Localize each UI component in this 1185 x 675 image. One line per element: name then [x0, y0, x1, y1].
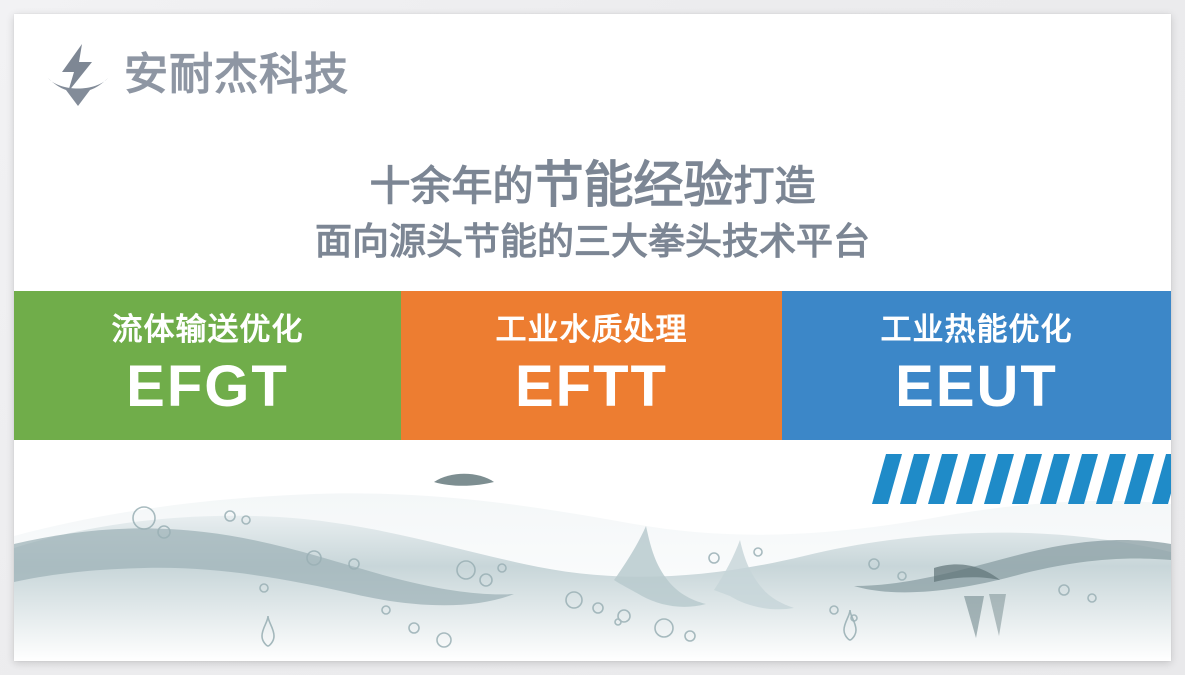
headline-emphasis: 节能经验: [534, 156, 734, 214]
panel-eeut-title: 工业热能优化: [881, 315, 1073, 346]
panel-eeut[interactable]: 工业热能优化 EEUT: [782, 291, 1171, 440]
headline-prefix: 十余年的: [370, 162, 534, 210]
panel-eftt-title: 工业水质处理: [496, 315, 688, 346]
headline-suffix: 打造: [734, 162, 816, 210]
panel-eftt[interactable]: 工业水质处理 EFTT: [401, 291, 782, 440]
panel-efgt-code: EFGT: [126, 358, 289, 416]
panel-efgt[interactable]: 流体输送优化 EFGT: [14, 291, 401, 440]
company-logo: 安耐杰科技: [46, 42, 349, 108]
slide-root: 安耐杰科技 十余年的节能经验打造 面向源头节能的三大拳头技术平台 流体输送优化 …: [0, 0, 1185, 675]
panel-eftt-code: EFTT: [515, 358, 668, 416]
panel-eeut-code: EEUT: [895, 358, 1058, 416]
panel-efgt-title: 流体输送优化: [112, 315, 304, 346]
water-splash-photo: [14, 440, 1171, 661]
headline-line-1: 十余年的节能经验打造: [14, 156, 1171, 215]
technology-platform-band: 流体输送优化 EFGT 工业水质处理 EFTT 工业热能优化 EEUT: [14, 291, 1171, 440]
headline-block: 十余年的节能经验打造 面向源头节能的三大拳头技术平台: [14, 156, 1171, 264]
logo-wordmark: 安耐杰科技: [124, 53, 349, 97]
headline-line-2: 面向源头节能的三大拳头技术平台: [14, 219, 1171, 264]
lightning-bolt-chevron-logo-icon: [46, 42, 110, 108]
slide-canvas: 安耐杰科技 十余年的节能经验打造 面向源头节能的三大拳头技术平台 流体输送优化 …: [14, 14, 1171, 661]
